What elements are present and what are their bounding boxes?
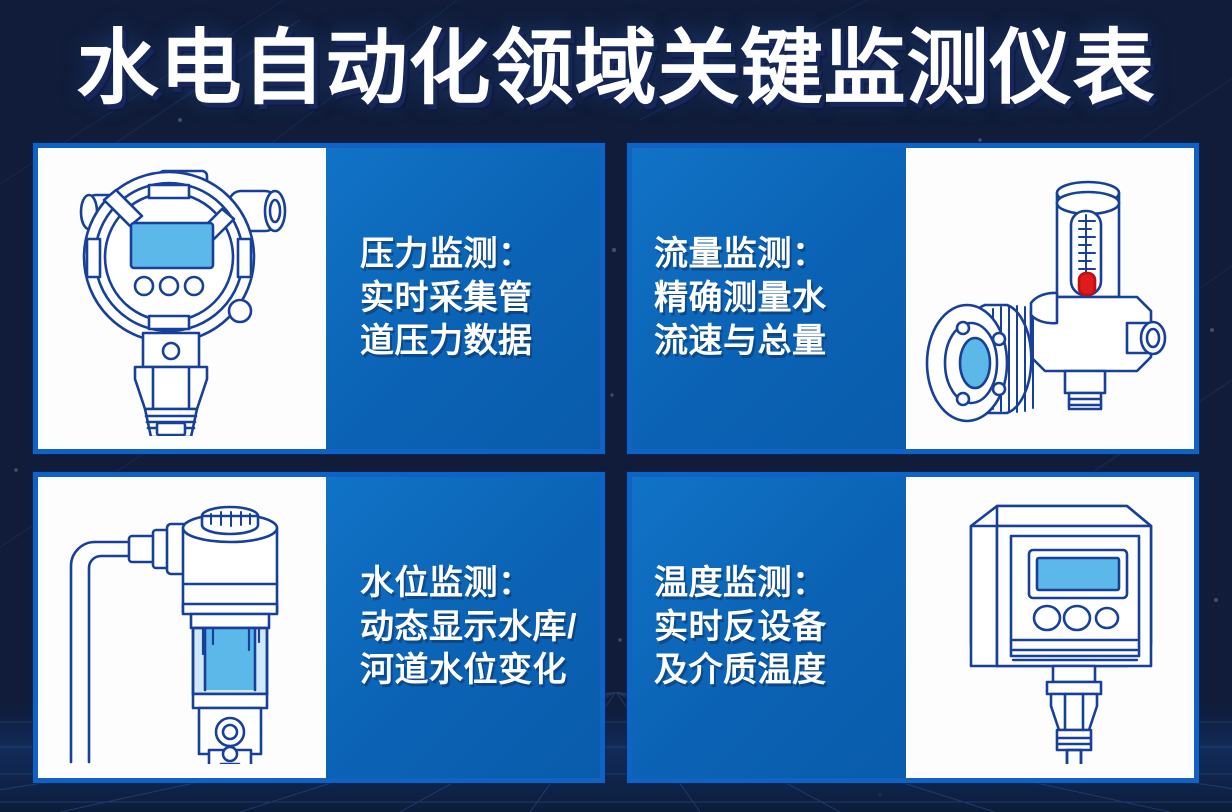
card-water-level-text-panel: 水位监测： 动态显示水库/ 河道水位变化 <box>326 477 600 778</box>
page-title: 水电自动化领域关键监测仪表 <box>76 1 1155 120</box>
card-water-level[interactable]: 水位监测： 动态显示水库/ 河道水位变化 <box>33 472 605 783</box>
instrument-card-grid: 压力监测： 实时采集管 道压力数据 <box>33 143 1199 783</box>
card-flow-text-panel: 流量监测： 精确测量水 流速与总量 <box>632 148 906 449</box>
page-title-container: 水电自动化领域关键监测仪表 <box>0 4 1232 116</box>
water-level-sensor-illustration <box>38 477 326 778</box>
card-water-level-label: 水位监测： 动态显示水库/ 河道水位变化 <box>360 562 577 693</box>
card-flow-label: 流量监测： 精确测量水 流速与总量 <box>654 233 827 364</box>
card-pressure[interactable]: 压力监测： 实时采集管 道压力数据 <box>33 143 605 454</box>
card-flow[interactable]: 流量监测： 精确测量水 流速与总量 <box>627 143 1199 454</box>
card-temperature-label: 温度监测： 实时反设备 及介质温度 <box>654 562 827 693</box>
card-temperature-text-panel: 温度监测： 实时反设备 及介质温度 <box>632 477 906 778</box>
card-pressure-label: 压力监测： 实时采集管 道压力数据 <box>360 233 533 364</box>
flow-meter-illustration <box>906 148 1194 449</box>
temperature-transmitter-illustration <box>906 477 1194 778</box>
card-pressure-text-panel: 压力监测： 实时采集管 道压力数据 <box>326 148 600 449</box>
pressure-transmitter-illustration <box>38 148 326 449</box>
card-temperature[interactable]: 温度监测： 实时反设备 及介质温度 <box>627 472 1199 783</box>
